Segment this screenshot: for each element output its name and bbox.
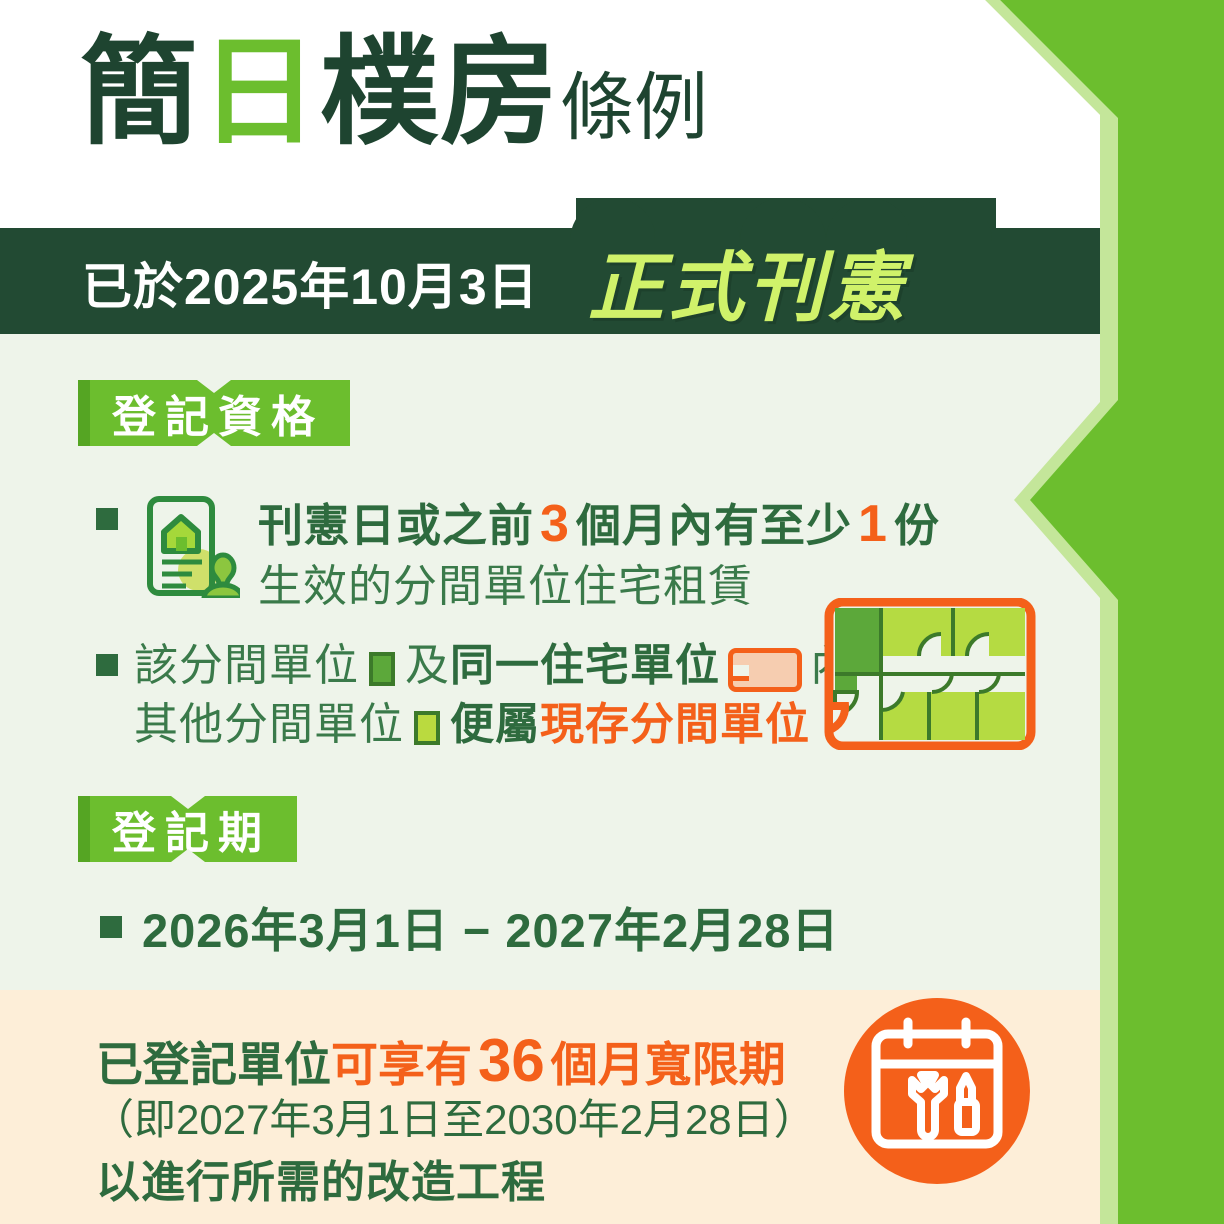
grace-period-line-1: 已登記單位可享有36個月寬限期 (96, 1026, 786, 1095)
bullet-square-icon (100, 916, 122, 938)
infographic-poster: 簡日樸房條例 已於2025年10月3日 正式刊憲 登記資格 (0, 0, 1224, 1224)
b2-l1-b: 及 (405, 636, 450, 695)
banner-date-text: 已於2025年10月3日 (82, 247, 539, 319)
bullet-1-line-1: 刊憲日或之前3個月內有至少1份 (258, 494, 940, 555)
b1-pre: 刊憲日或之前 (258, 500, 534, 551)
b2-l1-c: 同一住宅單位 (450, 636, 720, 695)
grace-period-line-3: 以進行所需的改造工程 (96, 1146, 546, 1210)
b1-mid: 個月內有至少 (576, 500, 852, 551)
gp-org-a: 可享有 (331, 1038, 472, 1091)
b2-l2-c: 現存分間單位 (540, 695, 810, 754)
title-subtext: 條例 (560, 66, 708, 149)
b1-post: 份 (894, 500, 940, 551)
registration-period-text: 2026年3月1日 − 2027年2月28日 (142, 892, 839, 961)
b2-l1-a: 該分間單位 (134, 636, 359, 695)
whole-unit-swatch-icon (728, 648, 802, 692)
floorplan-diagram-icon (824, 598, 1036, 750)
b2-l2-a: 其他分間單位 (134, 695, 404, 754)
eligibility-bullet-1: 刊憲日或之前3個月內有至少1份 生效的分間單位住宅租賃 (96, 492, 940, 614)
title-main-part1: 簡 (80, 27, 200, 159)
grace-period-line-2: （即2027年3月1日至2030年2月28日） (92, 1086, 816, 1147)
eligibility-bullet-2-text: 該分間單位及同一住宅單位內 其他分間單位便屬現存分間單位 (134, 636, 855, 755)
bullet-square-icon (96, 508, 118, 530)
gp-months-number: 36 (472, 1027, 551, 1094)
bullet-2-line-1: 該分間單位及同一住宅單位內 (134, 636, 855, 695)
tenancy-document-icon (136, 494, 240, 598)
gp-pre: 已登記單位 (96, 1038, 331, 1091)
page-title: 簡日樸房條例 (80, 34, 708, 152)
ribbon-notch-top-icon (171, 796, 205, 809)
b2-l2-b: 便屬 (450, 695, 540, 754)
other-subdivided-unit-swatch-icon (414, 711, 440, 745)
section-header-eligibility: 登記資格 (78, 380, 350, 446)
eligibility-bullet-2: 該分間單位及同一住宅單位內 其他分間單位便屬現存分間單位 (96, 636, 855, 755)
title-highlight-char: 日 (200, 27, 320, 159)
eligibility-bullet-1-text: 刊憲日或之前3個月內有至少1份 生效的分間單位住宅租賃 (258, 492, 940, 614)
ribbon-notch-bottom-icon (197, 433, 231, 446)
b1-number-count: 1 (852, 495, 894, 553)
ribbon-notch-top-icon (197, 380, 231, 393)
b1-number-months: 3 (534, 495, 576, 553)
bullet-square-icon (96, 654, 118, 676)
title-main-part2: 樸房 (320, 27, 560, 159)
section-header-period: 登記期 (78, 796, 297, 862)
bullet-2-line-2: 其他分間單位便屬現存分間單位 (134, 695, 855, 754)
subdivided-unit-swatch-icon (369, 652, 395, 686)
registration-period-row: 2026年3月1日 − 2027年2月28日 (100, 892, 839, 961)
calendar-tools-icon (842, 996, 1032, 1186)
ribbon-notch-bottom-icon (171, 849, 205, 862)
content-card: 簡日樸房條例 已於2025年10月3日 正式刊憲 登記資格 (0, 0, 1100, 1224)
banner-highlight-text: 正式刊憲 (588, 226, 908, 336)
gp-org-b: 個月寬限期 (551, 1038, 786, 1091)
